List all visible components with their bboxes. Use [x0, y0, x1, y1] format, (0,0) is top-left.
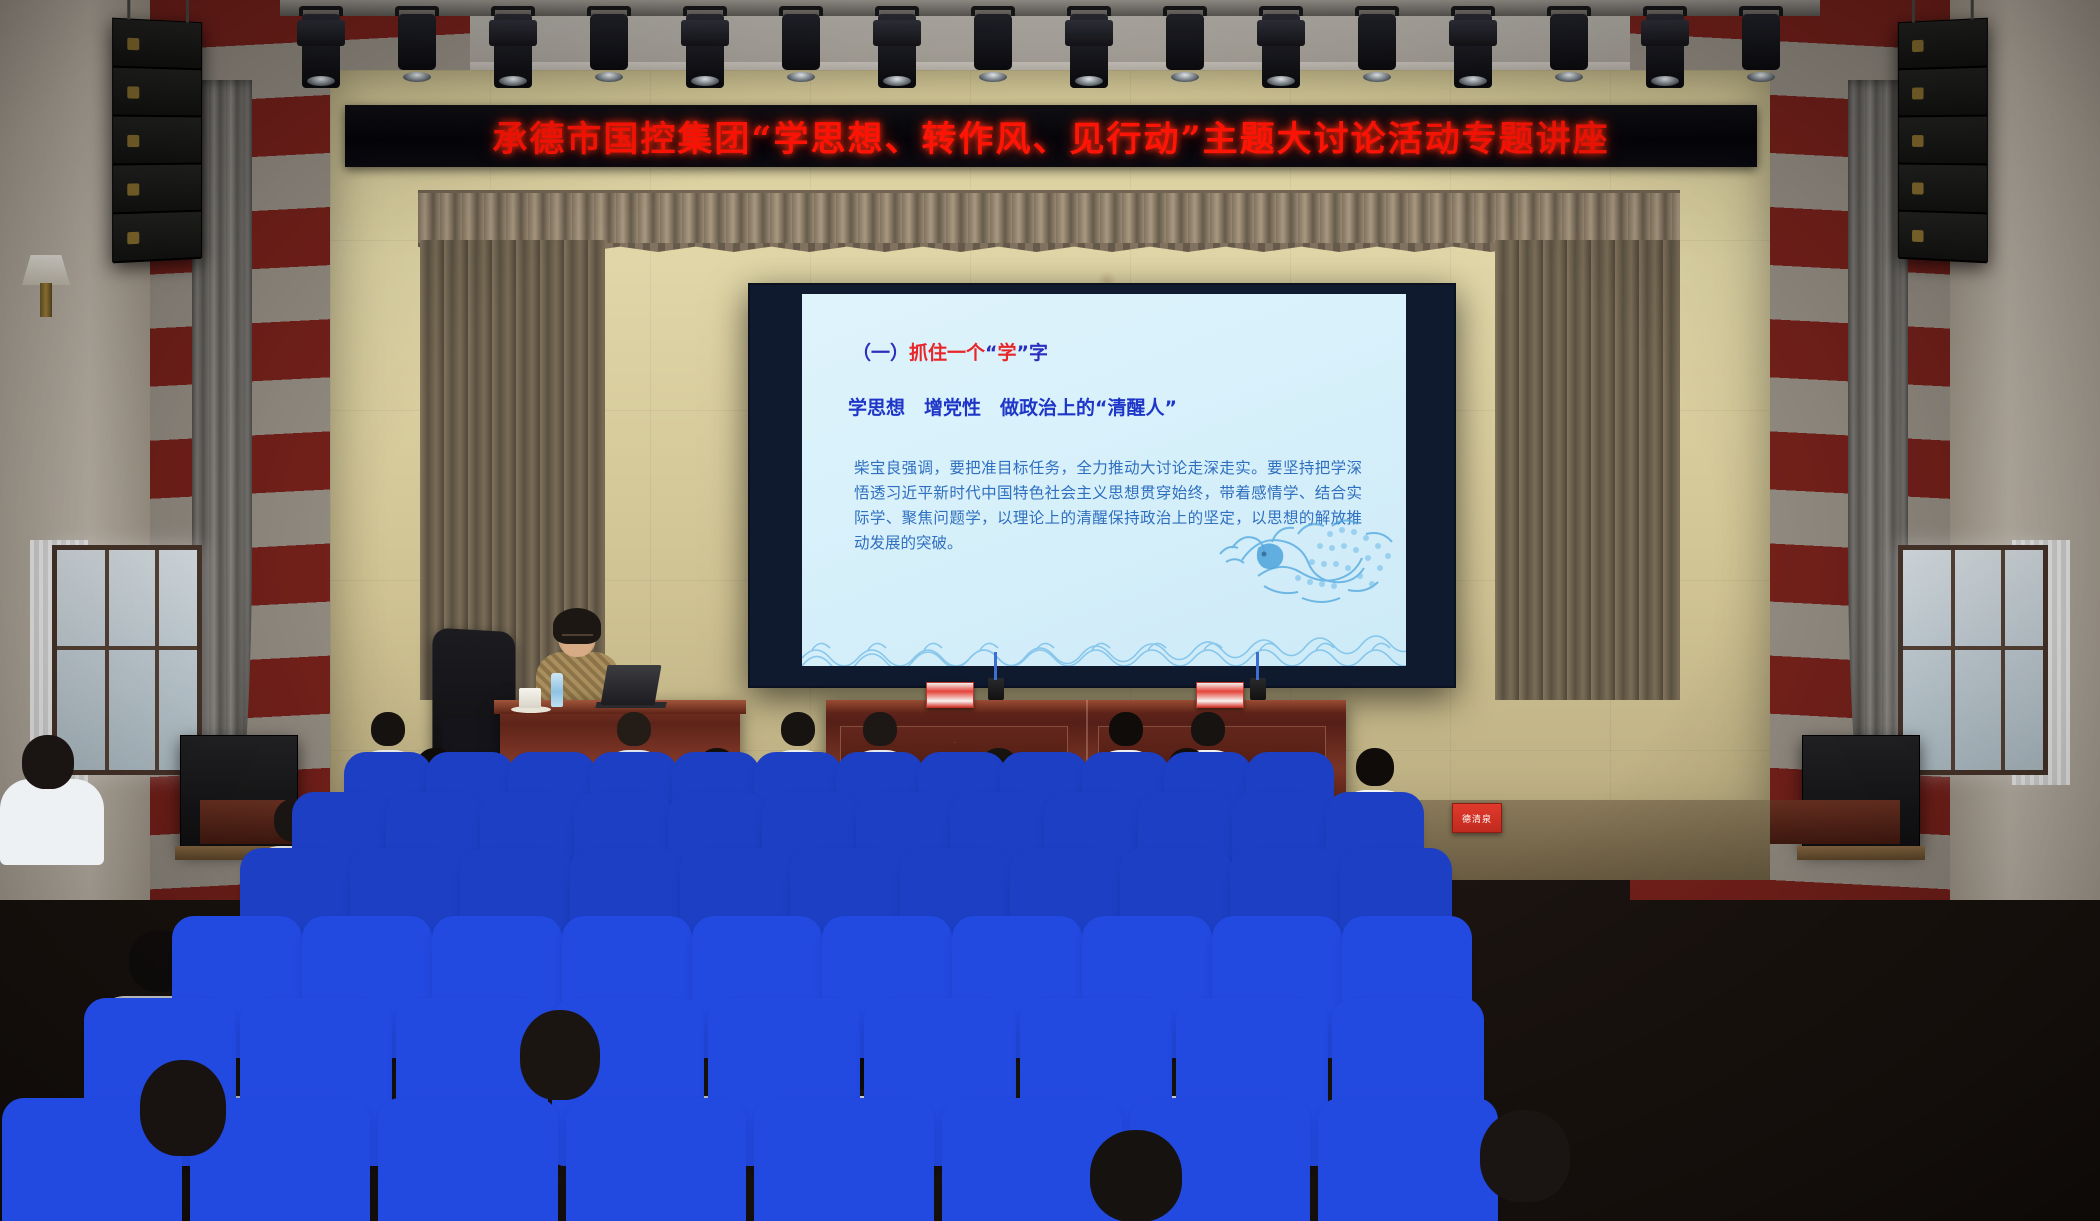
fresnel-light-icon: [967, 6, 1019, 88]
line-array-speaker-left: [112, 18, 202, 263]
moving-head-light-icon: [1447, 6, 1499, 88]
slide-title-quote-open: “: [985, 342, 998, 364]
foreground-audience-member: [1090, 1130, 1182, 1221]
audience-member-head: [1109, 712, 1143, 746]
right-side-table: [1750, 800, 1900, 844]
front-left-attendee-torso: [0, 779, 104, 865]
fresnel-light-icon: [1735, 6, 1787, 88]
auditorium-seat[interactable]: [1326, 1106, 1490, 1221]
wave-pattern-decoration-icon: [802, 624, 1406, 666]
slide-title-quote-close: ”: [1017, 342, 1030, 364]
banner-text: 承德市国控集团“学思想、转作风、见行动”主题大讨论活动专题讲座: [492, 111, 1609, 162]
slide-subtitle: 学思想 增党性 做政治上的“清醒人”: [848, 393, 1406, 420]
nameplate-right: [1196, 682, 1244, 708]
auditorium-seat[interactable]: [762, 1106, 926, 1221]
moving-head-light-icon: [871, 6, 923, 88]
tea-cup: [519, 688, 541, 708]
moving-head-light-icon: [487, 6, 539, 88]
slide-title-suffix: 字: [1029, 342, 1048, 364]
fresnel-light-icon: [583, 6, 635, 88]
foreground-audience-member: [520, 1010, 600, 1100]
foreground-audience-head: [520, 1010, 600, 1100]
audience-member-head: [617, 712, 651, 746]
front-left-seated-attendee: [0, 735, 110, 865]
slide-title: （一）抓住一个“学”字: [852, 338, 1406, 365]
foreground-audience-head: [1090, 1130, 1182, 1221]
presenter-glasses-icon: [562, 634, 593, 641]
fresnel-light-icon: [1351, 6, 1403, 88]
fresnel-light-icon: [775, 6, 827, 88]
moving-head-light-icon: [679, 6, 731, 88]
wall-sconce-arm: [40, 283, 52, 317]
foreground-audience-head: [1480, 1110, 1570, 1202]
fresnel-light-icon: [1543, 6, 1595, 88]
audience-member-head: [863, 712, 897, 746]
audience-member-head: [1191, 712, 1225, 746]
auditorium-seat[interactable]: [574, 1106, 738, 1221]
moving-head-light-icon: [1639, 6, 1691, 88]
water-bottle: [551, 673, 563, 707]
stage-valance-curtain: [418, 190, 1680, 245]
laptop: [600, 665, 661, 705]
foreground-audience-head: [140, 1060, 226, 1156]
foreground-audience-member: [1480, 1110, 1570, 1202]
fresnel-light-icon: [391, 6, 443, 88]
foreground-audience-member: [140, 1060, 226, 1156]
front-left-attendee-head: [22, 735, 74, 789]
conference-hall-photo: 承德市国控集团“学思想、转作风、见行动”主题大讨论活动专题讲座 （一）抓住一个“…: [0, 0, 2100, 1221]
right-window: [1898, 545, 2048, 775]
stage-curtain-right: [1495, 240, 1680, 700]
microphone-left: [988, 678, 1004, 700]
audience-name-card: 德清泉: [1452, 803, 1502, 833]
audience-member-head: [781, 712, 815, 746]
audience-member-head: [1356, 748, 1394, 786]
slide-title-key: 学: [998, 342, 1017, 364]
nameplate-left: [926, 682, 974, 708]
subwoofer-stand-right: [1797, 846, 1925, 860]
slide-title-red: 抓住一个: [909, 342, 985, 364]
microphone-right: [1250, 678, 1266, 700]
dragon-decoration-icon: [1202, 490, 1406, 640]
moving-head-light-icon: [295, 6, 347, 88]
slide-title-number: （一）: [852, 342, 909, 364]
auditorium-seat[interactable]: [386, 1106, 550, 1221]
line-array-speaker-right: [1898, 18, 1988, 263]
led-banner: 承德市国控集团“学思想、转作风、见行动”主题大讨论活动专题讲座: [345, 105, 1757, 167]
moving-head-light-icon: [1255, 6, 1307, 88]
moving-head-light-icon: [1063, 6, 1115, 88]
audience-member-head: [371, 712, 405, 746]
projection-screen: （一）抓住一个“学”字 学思想 增党性 做政治上的“清醒人” 柴宝良强调，要把准…: [748, 283, 1456, 688]
presentation-slide: （一）抓住一个“学”字 学思想 增党性 做政治上的“清醒人” 柴宝良强调，要把准…: [802, 294, 1406, 666]
fresnel-light-icon: [1159, 6, 1211, 88]
